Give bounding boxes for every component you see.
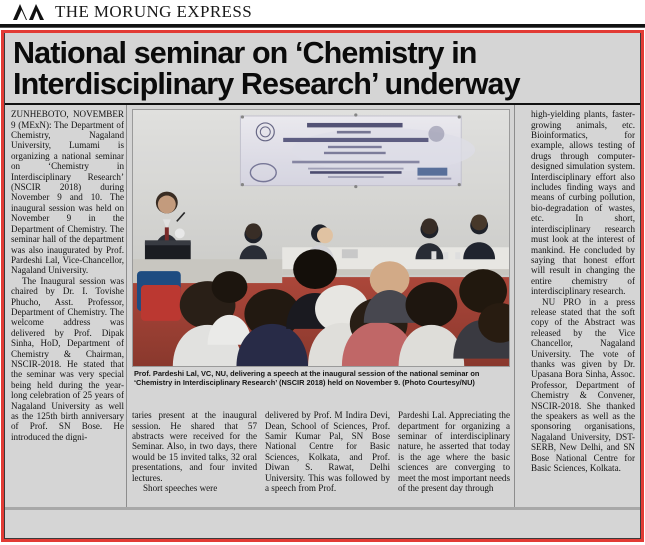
headline-line-2: Interdisciplinary Research’ underway <box>13 69 634 100</box>
photo-block: Prof. Pardeshi Lal, VC, NU, delivering a… <box>132 109 510 390</box>
article-body: ZUNHEBOTO, NOVEMBER 9 (MExN): The Depart… <box>5 105 640 510</box>
paragraph: NU PRO in a press release stated that th… <box>531 297 635 474</box>
column-divider <box>126 105 127 510</box>
mountain-peaks-logo-icon <box>12 3 46 21</box>
article-frame: National seminar on ‘Chemistry in Interd… <box>1 30 644 542</box>
paragraph: Pardeshi Lal. Appreciating the departmen… <box>398 410 510 493</box>
column-divider <box>514 105 515 510</box>
photo-image <box>133 110 509 367</box>
paragraph: taries present at the inaugural session.… <box>132 410 257 483</box>
paragraph: Short speeches were <box>132 483 257 493</box>
headline-line-1: National seminar on ‘Chemistry in <box>13 38 634 69</box>
text-column-5: high-yielding plants, faster-growing ani… <box>531 109 635 510</box>
text-column-3-body: delivered by Prof. M Indira Devi, Dean, … <box>265 410 390 493</box>
seminar-photo <box>132 109 510 367</box>
bottom-rule <box>5 507 640 510</box>
paragraph: The Inaugural session was chaired by Dr.… <box>11 276 124 443</box>
article-inner: National seminar on ‘Chemistry in Interd… <box>4 33 641 539</box>
text-column-4-body: Pardeshi Lal. Appreciating the departmen… <box>398 410 510 493</box>
publication-title: THE MORUNG EXPRESS <box>55 2 252 22</box>
paragraph: high-yielding plants, faster-growing ani… <box>531 109 635 296</box>
newspaper-clipping: THE MORUNG EXPRESS National seminar on ‘… <box>0 0 645 545</box>
masthead: THE MORUNG EXPRESS <box>0 0 645 24</box>
paragraph: delivered by Prof. M Indira Devi, Dean, … <box>265 410 390 493</box>
photo-caption: Prof. Pardeshi Lal, VC, NU, delivering a… <box>132 367 510 390</box>
text-column-1: ZUNHEBOTO, NOVEMBER 9 (MExN): The Depart… <box>11 109 124 510</box>
paragraph: ZUNHEBOTO, NOVEMBER 9 (MExN): The Depart… <box>11 109 124 276</box>
below-photo-columns: taries present at the inaugural session.… <box>132 410 510 493</box>
masthead-rule-thin <box>0 27 645 28</box>
text-column-2-body: taries present at the inaugural session.… <box>132 410 257 493</box>
headline-block: National seminar on ‘Chemistry in Interd… <box>5 33 640 105</box>
